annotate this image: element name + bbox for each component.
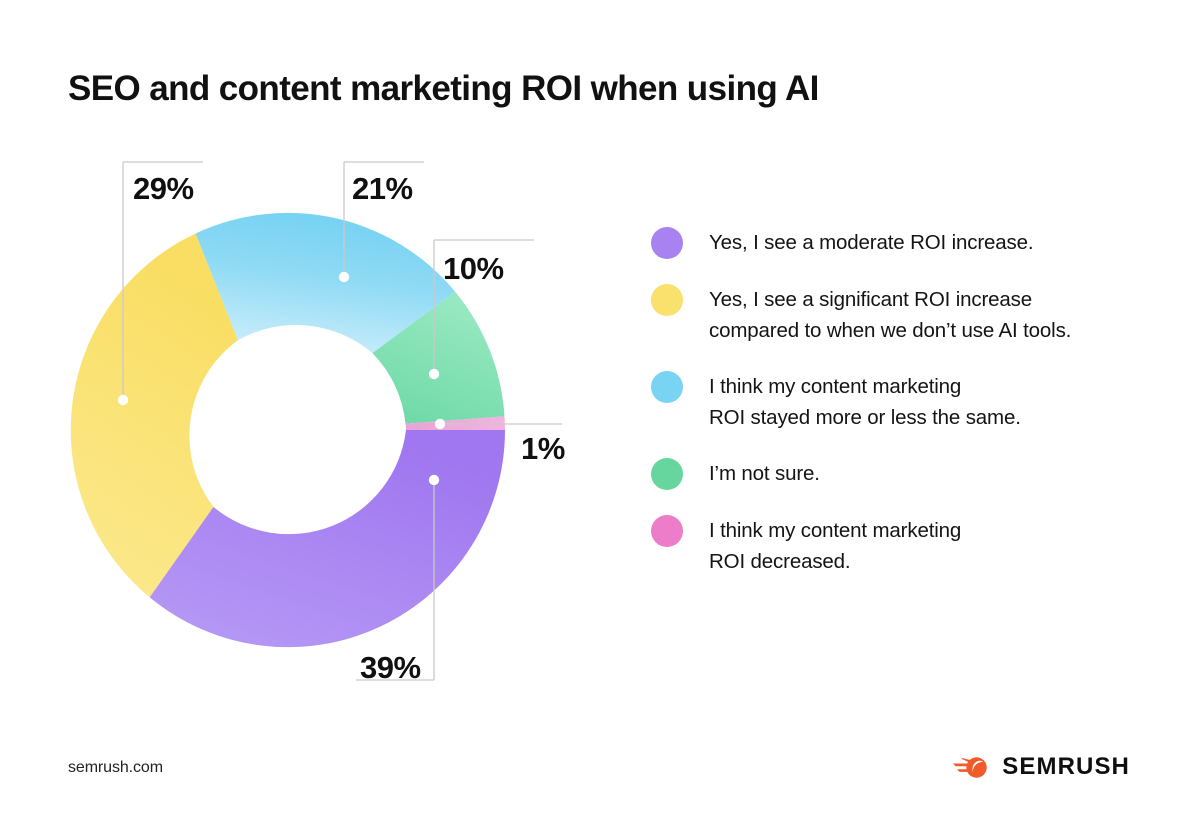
donut-chart-svg — [0, 0, 640, 740]
legend-swatch-icon — [651, 515, 683, 547]
legend-item-label: I think my content marketing ROI decreas… — [709, 514, 961, 577]
legend-swatch-icon — [651, 227, 683, 259]
leader-dot-39 — [429, 475, 439, 485]
slice-label-21: 21% — [352, 171, 413, 207]
legend-item-significant-roi-increase[interactable]: Yes, I see a significant ROI increase co… — [651, 283, 1151, 346]
leader-dot-1 — [435, 419, 445, 429]
semrush-wordmark: SEMRUSH — [1002, 753, 1130, 781]
legend-item-moderate-roi-increase[interactable]: Yes, I see a moderate ROI increase. — [651, 226, 1151, 259]
slice-label-1: 1% — [521, 431, 565, 467]
legend-swatch-icon — [651, 371, 683, 403]
legend-item-label: Yes, I see a significant ROI increase co… — [709, 283, 1071, 346]
legend-item-roi-stayed-same[interactable]: I think my content marketing ROI stayed … — [651, 370, 1151, 433]
leader-dot-10 — [429, 369, 439, 379]
slice-label-39: 39% — [360, 650, 421, 686]
legend-item-label: I’m not sure. — [709, 457, 820, 489]
donut-chart: 29% 21% 10% 1% 39% — [0, 0, 640, 740]
legend-item-roi-decreased[interactable]: I think my content marketing ROI decreas… — [651, 514, 1151, 577]
slice-label-10: 10% — [443, 251, 504, 287]
donut-slice-moderate-roi-increase[interactable] — [150, 430, 505, 647]
semrush-logo: SEMRUSH — [951, 753, 1130, 781]
infographic-page: SEO and content marketing ROI when using… — [0, 0, 1196, 820]
legend-item-label: I think my content marketing ROI stayed … — [709, 370, 1021, 433]
slice-label-29: 29% — [133, 171, 194, 207]
leader-dot-21 — [339, 272, 349, 282]
legend-swatch-icon — [651, 458, 683, 490]
chart-legend: Yes, I see a moderate ROI increase. Yes,… — [651, 226, 1151, 601]
leader-dot-29 — [118, 395, 128, 405]
semrush-comet-icon — [951, 754, 991, 781]
source-url: semrush.com — [68, 759, 163, 777]
legend-item-label: Yes, I see a moderate ROI increase. — [709, 226, 1033, 258]
legend-item-not-sure[interactable]: I’m not sure. — [651, 457, 1151, 490]
legend-swatch-icon — [651, 284, 683, 316]
